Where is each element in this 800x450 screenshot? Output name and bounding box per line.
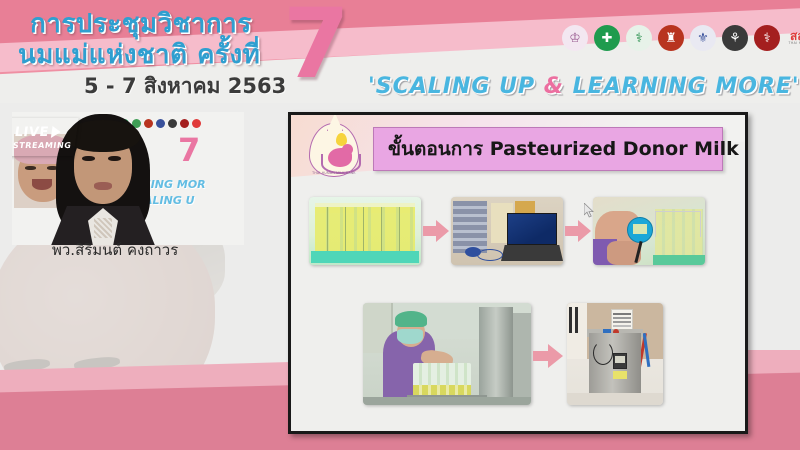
thaihealth-logo: สสส THAI HEALTH	[786, 25, 800, 51]
p3-thermometer-display	[633, 224, 647, 234]
streaming-label: STREAMING	[12, 141, 75, 150]
content-panel: THAI HUMAN MILK BANK ขั้นตอนการ Pasteuri…	[288, 112, 748, 434]
backdrop-logo-4	[156, 119, 165, 128]
p5-black-cable	[593, 341, 613, 365]
live-badge-row: LIVE	[14, 125, 78, 140]
mouse-cursor	[584, 203, 595, 218]
p4-hood-side	[513, 313, 531, 401]
pediatric-society-logo: ⚘	[722, 25, 748, 51]
sponsor-logo-6: ⚕	[754, 25, 780, 51]
sponsor-logo-4: ⚜	[690, 25, 716, 51]
p3-wire-frame	[655, 211, 701, 237]
thaihealth-sub: THAI HEALTH	[789, 41, 800, 45]
slide-stage: การประชุมวิชาการ นมแม่แห่งชาติ ครั้งที่ …	[0, 0, 800, 450]
speaker-video-inset[interactable]: การประชุมวิชาการ นมแม่แห่งชาติ ครั้งที่ …	[12, 112, 244, 245]
sponsor-logo-0: ♔	[562, 25, 588, 51]
child-mouth	[32, 179, 52, 190]
p4-nurse-cap	[395, 311, 427, 327]
thaihealth-mark: สสส	[790, 31, 800, 42]
child-eye-left	[25, 166, 36, 170]
backdrop-logo-6	[180, 119, 189, 128]
sponsor-logo-row: ♔ ✚ ⚕ ♜ ⚜ ⚘ ⚕ สสส THAI HEALTH	[562, 25, 800, 51]
arrow-step1-to-step2	[423, 219, 449, 243]
sponsor-logo-5: ⚘	[722, 25, 748, 51]
ministry-of-public-health-logo: ⚕	[626, 25, 652, 51]
medical-council-logo: ⚕	[754, 25, 780, 51]
tagline-ampersand: &	[544, 74, 564, 99]
p5-floor	[567, 393, 663, 405]
p2-shelf	[453, 201, 487, 253]
photo-temperature-probe	[593, 197, 705, 265]
photo-nurse-loading-pasteurizer	[363, 303, 531, 405]
sponsor-logo-2: ⚕	[626, 25, 652, 51]
thai-breastfeeding-foundation-logo: ✚	[594, 25, 620, 51]
milk-logo-caption: THAI HUMAN MILK BANK	[303, 171, 365, 175]
arrow-step2-to-step3	[565, 219, 591, 243]
page-title: ขั้นตอนการ Pasteurized Donor Milk	[388, 134, 739, 164]
milk-drop-shape	[309, 123, 359, 177]
backdrop-edition-number: 7	[178, 134, 200, 166]
p4-nurse-mask	[397, 329, 423, 344]
human-milk-bank-drop-logo: THAI HUMAN MILK BANK	[303, 121, 365, 183]
p1-bottles	[315, 207, 415, 253]
p5-stripe-2	[575, 307, 578, 333]
live-label: LIVE	[14, 125, 50, 140]
speaker-eye-right	[108, 156, 121, 161]
tagline-part1: 'SCALING UP	[368, 74, 544, 99]
p1-divider-1	[327, 207, 328, 253]
sponsor-logo-1: ✚	[594, 25, 620, 51]
speaker-name: พว.สิริมนต์ คงถาวร	[52, 238, 178, 262]
speaker-eye-left	[82, 156, 95, 161]
p2-laptop-keyboard	[501, 245, 563, 261]
royal-college-logo: ♜	[658, 25, 684, 51]
photo-pasteurizer-machine	[567, 303, 663, 405]
p3-green-tray	[653, 255, 705, 265]
p5-warning-label	[613, 371, 627, 379]
p1-divider-5	[399, 207, 400, 253]
p1-divider-3	[363, 207, 364, 253]
sponsor-logo-3: ♜	[658, 25, 684, 51]
speaker-blouse-pattern	[94, 218, 112, 238]
p4-hood	[479, 307, 513, 401]
p4-counter	[363, 397, 531, 405]
event-date: 5 - 7 สิงหาคม 2563	[84, 70, 286, 103]
nursing-council-logo: ⚜	[690, 25, 716, 51]
backdrop-logo-7	[192, 119, 201, 128]
speaker-mouth	[94, 182, 112, 190]
event-banner: การประชุมวิชาการ นมแม่แห่งชาติ ครั้งที่ …	[0, 0, 800, 103]
event-edition-number: 7	[283, 0, 350, 92]
p5-stripe-1	[569, 307, 572, 333]
photo-laptop-workstation	[451, 197, 563, 265]
p1-divider-4	[381, 207, 382, 253]
panel-title-box: ขั้นตอนการ Pasteurized Donor Milk	[373, 127, 723, 171]
arrow-step4-to-step5	[533, 343, 563, 369]
p2-laptop-screen	[507, 213, 557, 245]
tagline-part2: LEARNING MORE'	[564, 74, 800, 99]
live-streaming-badge: LIVE STREAMING	[12, 118, 79, 156]
event-tagline: 'SCALING UP & LEARNING MORE'	[368, 74, 800, 99]
play-icon	[51, 126, 62, 138]
p1-pallet	[311, 251, 419, 263]
royal-patronage-logo: ♔	[562, 25, 588, 51]
photo-milk-bottle-rack	[309, 197, 421, 265]
p2-mouse	[465, 247, 481, 257]
event-title-line2: นมแม่แห่งชาติ ครั้งที่	[18, 34, 260, 75]
p1-divider-2	[345, 207, 346, 253]
p5-sign-text-lines	[613, 313, 631, 315]
backdrop-logo-5	[168, 119, 177, 128]
p5-control-display	[615, 356, 625, 363]
